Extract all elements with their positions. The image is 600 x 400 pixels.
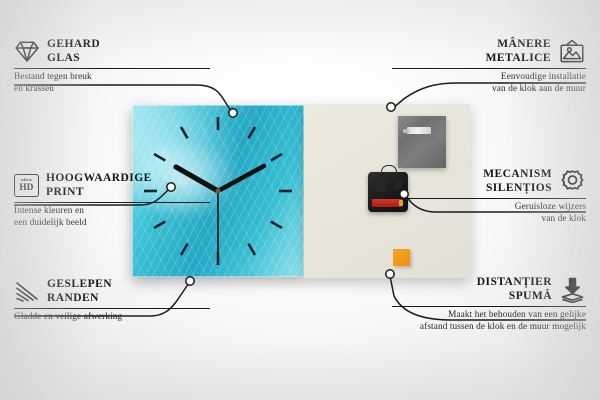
feature-rule	[392, 68, 586, 69]
feature-subtitle: Geruisloze wijzers van de klok	[400, 202, 586, 225]
feature-title: MÂNERE METALICE	[486, 38, 551, 65]
feature-header: MECANISM SILENȚIOS	[400, 168, 586, 195]
feature-rule	[392, 306, 586, 307]
infographic-canvas: GEHARD GLAS Bestand tegen breuk en krass…	[0, 0, 600, 400]
feature-rule	[14, 68, 210, 69]
feature-title: MECANISM SILENȚIOS	[483, 168, 552, 195]
feature-header: DISTANȚIER SPUMĂ	[392, 276, 586, 303]
leader-dot-manere-metalice	[387, 103, 395, 111]
feature-subtitle: Intense kleuren en een duidelijk beeld	[14, 206, 210, 229]
feature-header: ultra HD HOOGWAARDIGE PRINT	[14, 172, 210, 199]
ultra-hd-badge-main: HD	[19, 183, 33, 192]
feature-subtitle: Maakt het behouden van een gelijke afsta…	[392, 310, 586, 333]
feature-subtitle: Gladde en veilige afwerking	[14, 312, 210, 324]
feature-distantier-spuma: DISTANȚIER SPUMĂ Maakt het behouden van …	[392, 276, 586, 333]
bevelled-edges-icon	[14, 280, 40, 303]
framed-picture-hanging-icon	[558, 39, 586, 64]
diamond-icon	[14, 40, 40, 63]
feature-gehard-glas: GEHARD GLAS Bestand tegen breuk en krass…	[14, 38, 210, 95]
feature-header: GESLEPEN RANDEN	[14, 278, 210, 305]
feature-subtitle: Bestand tegen breuk en krassen	[14, 72, 210, 95]
feature-title: GEHARD GLAS	[47, 38, 100, 65]
feature-hoogwaardige-print: ultra HD HOOGWAARDIGE PRINT Intense kleu…	[14, 172, 210, 229]
ultra-hd-badge-icon: ultra HD	[14, 174, 39, 197]
feature-rule	[14, 202, 210, 203]
feature-title: DISTANȚIER SPUMĂ	[477, 276, 552, 303]
feature-mecanism-silentios: MECANISM SILENȚIOS Geruisloze wijzers va…	[400, 168, 586, 225]
arrow-down-onto-stack-icon	[559, 277, 586, 303]
feature-title: HOOGWAARDIGE PRINT	[46, 172, 152, 199]
gear-icon	[559, 169, 586, 195]
feature-manere-metalice: MÂNERE METALICE Eenvoudige installatie v…	[392, 38, 586, 95]
feature-geslepen-randen: GESLEPEN RANDEN Gladde en veilige afwerk…	[14, 278, 210, 324]
feature-rule	[400, 198, 586, 199]
feature-rule	[14, 308, 210, 309]
leader-dot-gehard-glas	[229, 109, 237, 117]
feature-header: GEHARD GLAS	[14, 38, 210, 65]
feature-header: MÂNERE METALICE	[392, 38, 586, 65]
feature-subtitle: Eenvoudige installatie van de klok aan d…	[392, 72, 586, 95]
feature-title: GESLEPEN RANDEN	[47, 278, 112, 305]
